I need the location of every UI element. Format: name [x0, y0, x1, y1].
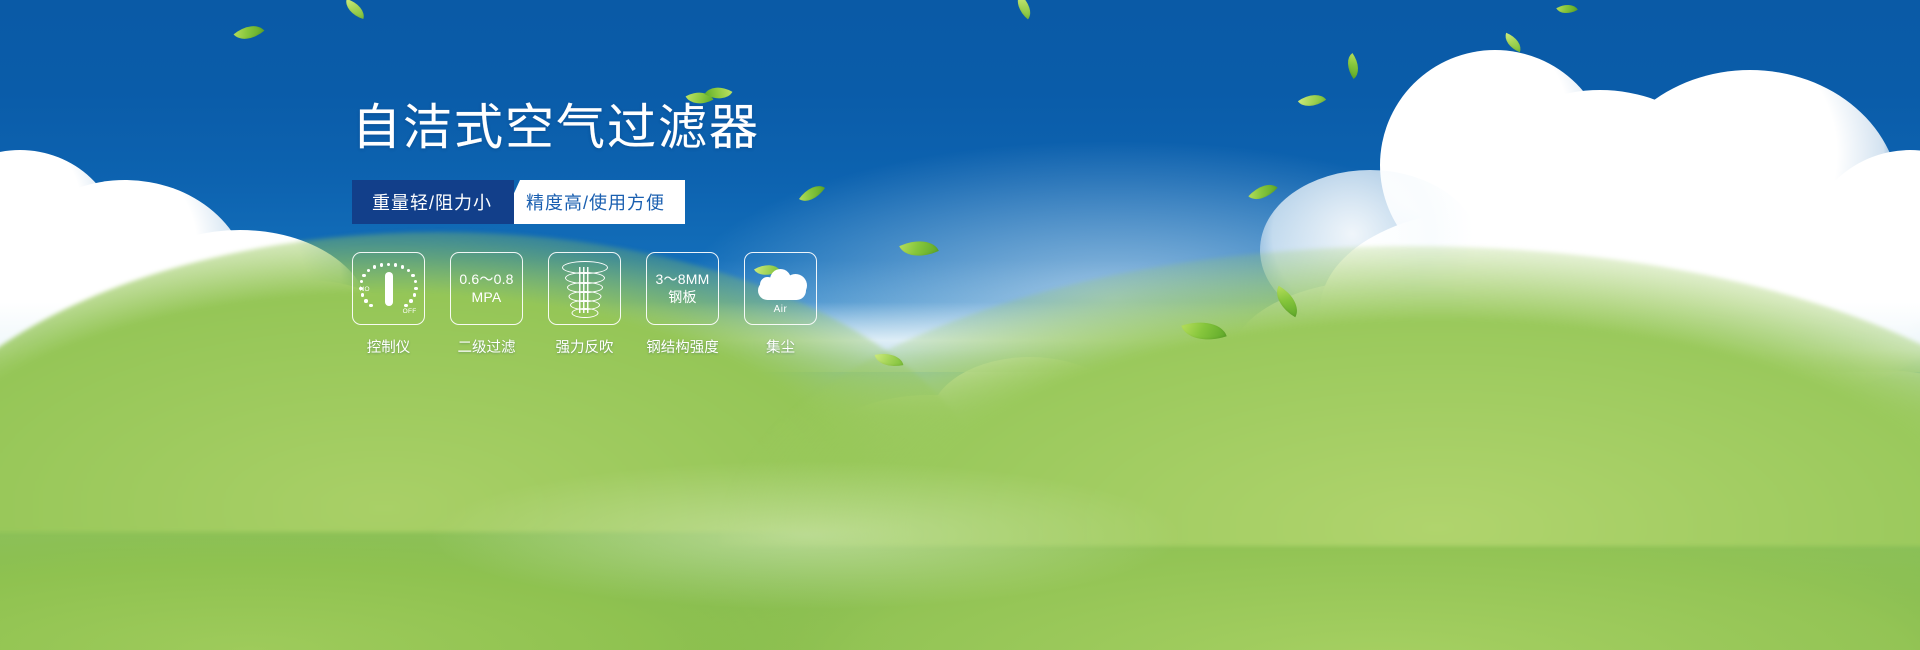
- feature-caption: 钢结构强度: [646, 336, 719, 357]
- feature-caption: 集尘: [766, 336, 795, 357]
- pressure-value: 0.6～0.8: [459, 271, 513, 288]
- feature-item-steel-strength[interactable]: 3～8MM 钢板 钢结构强度: [646, 252, 719, 357]
- filter-cartridge-icon: [562, 261, 608, 317]
- feature-icon-box: 0.6～0.8 MPA: [450, 252, 523, 325]
- floating-leaf: [1011, 0, 1037, 19]
- feature-list: NO OFF 控制仪 0.6～0.8 MPA 二级过滤: [352, 252, 972, 357]
- title-wrap: 自洁式空气过滤器: [352, 104, 760, 153]
- feature-caption: 二级过滤: [458, 336, 516, 357]
- feature-tabs: 重量轻/阻力小 精度高/使用方便: [352, 180, 972, 224]
- pressure-text-icon: 0.6～0.8 MPA: [459, 271, 513, 305]
- leaf-sprout-icon: [688, 82, 734, 112]
- feature-item-two-stage-filter[interactable]: 0.6～0.8 MPA 二级过滤: [450, 252, 523, 357]
- feature-icon-box: Air: [744, 252, 817, 325]
- floating-leaf: [1248, 177, 1277, 207]
- product-banner: 自洁式空气过滤器 重量轻/阻力小 精度高/使用方便: [0, 0, 1920, 650]
- floating-leaf: [1501, 33, 1524, 53]
- feature-icon-box: 3～8MM 钢板: [646, 252, 719, 325]
- steel-thickness: 3～8MM: [656, 271, 710, 288]
- gauge-label-off: OFF: [403, 308, 417, 315]
- tab-weight-resistance[interactable]: 重量轻/阻力小: [352, 180, 514, 224]
- floating-leaf: [234, 18, 265, 48]
- steel-material: 钢板: [656, 289, 710, 306]
- banner-content: 自洁式空气过滤器 重量轻/阻力小 精度高/使用方便: [352, 104, 972, 357]
- tab-precision-convenience[interactable]: 精度高/使用方便: [500, 180, 685, 224]
- cloud-air-icon: Air: [752, 265, 810, 313]
- gauge-label-no: NO: [360, 286, 370, 293]
- floating-leaf: [342, 0, 367, 19]
- gauge-dial-icon: NO OFF: [360, 260, 418, 318]
- cloud-air-label: Air: [752, 304, 810, 315]
- gauge-needle: [385, 272, 393, 306]
- floating-leaf: [1298, 87, 1326, 113]
- feature-item-controller[interactable]: NO OFF 控制仪: [352, 252, 425, 357]
- feature-item-dust-collection[interactable]: Air 集尘: [744, 252, 817, 357]
- feature-icon-box: [548, 252, 621, 325]
- floating-leaf: [1341, 53, 1365, 79]
- feature-item-strong-backblow[interactable]: 强力反吹: [548, 252, 621, 357]
- feature-icon-box: NO OFF: [352, 252, 425, 325]
- floating-leaf: [1556, 0, 1578, 19]
- feature-caption: 强力反吹: [556, 336, 614, 357]
- steel-plate-text-icon: 3～8MM 钢板: [656, 271, 710, 305]
- pressure-unit: MPA: [459, 289, 513, 306]
- grass-field: [0, 350, 1920, 650]
- feature-caption: 控制仪: [367, 336, 411, 357]
